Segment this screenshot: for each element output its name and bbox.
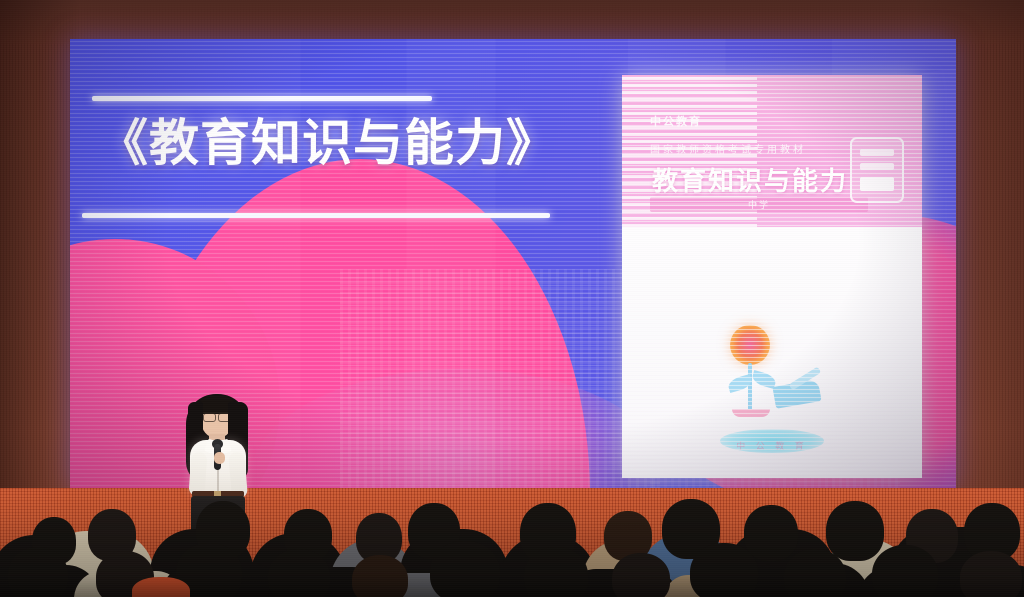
book-edition-label: 中学 [748,198,770,211]
audience-head [872,545,938,597]
book-brand-label: 中公教育 [650,113,702,129]
audience-head [8,547,68,597]
audience-head [690,543,758,597]
slide-title: 《教育知识与能力》 [98,117,618,170]
flower-icon [730,325,770,365]
seal-line-2 [860,163,894,170]
glasses-icon [203,412,231,420]
audience-head [612,553,670,597]
audience-head [352,555,408,597]
audience-head [960,551,1022,597]
audience-head [826,501,884,561]
book-edition-bar: 中学 [650,197,868,212]
audience-head [524,547,588,597]
book-title: 教育知识与能力 [652,161,848,198]
presenter-arm-left [188,451,207,496]
audience-head [430,541,500,597]
seal-line-3 [860,177,894,191]
book-seal-icon [850,137,904,203]
audience-head [268,549,330,597]
book-cover-graphic: 中公教育 国家教师资格考试专用教材 教育知识与能力 中学 [622,75,922,478]
slide-rule-top [92,96,432,101]
stem-icon [748,363,752,411]
wall-left-shadow [0,0,80,500]
audience-head [132,577,190,597]
slide-rule-bottom [82,213,550,218]
book-cover-body: 中 公 教 育 [622,227,922,478]
presenter-hand [214,452,225,464]
book-illustration [692,325,852,455]
audience-head [744,505,798,561]
planter-icon [732,409,770,417]
seal-line-1 [860,149,894,156]
book-footer-label: 中 公 教 育 [622,439,922,452]
wall-top-shadow [0,0,1024,44]
lecture-hall-photo: 《教育知识与能力》 中公教育 国家教师资格考试专用教材 教育知识与能力 中学 [0,0,1024,597]
screen-dither-block-a [340,269,660,490]
audience-head [784,549,846,597]
audience-rows [0,495,1024,597]
